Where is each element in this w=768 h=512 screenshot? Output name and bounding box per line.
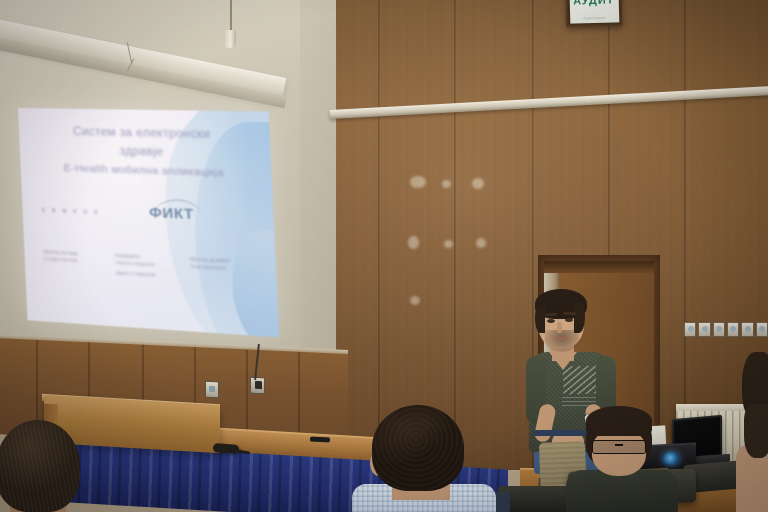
eyeglasses-bridge bbox=[615, 444, 623, 446]
presenter-mouth bbox=[554, 337, 568, 340]
power-outlet-left[interactable] bbox=[205, 381, 219, 399]
presenter-hair-left bbox=[535, 305, 545, 333]
attendee-center-hair bbox=[372, 405, 464, 491]
presenter-eye-right bbox=[565, 318, 573, 322]
lecture-hall-photo: АУДИТ Аудиториум Систем за електронски bbox=[0, 0, 768, 512]
presenter-eye-left bbox=[547, 319, 555, 323]
credit-line: Игор Димитров bbox=[190, 261, 255, 275]
presenter-eyebrow-right bbox=[563, 312, 576, 316]
wall-sign-face: АУДИТ Аудиториум bbox=[569, 0, 619, 23]
wall-sign-frame: АУДИТ Аудиториум bbox=[566, 0, 623, 27]
power-outlet[interactable] bbox=[741, 322, 753, 337]
power-outlet[interactable] bbox=[698, 322, 710, 337]
attendee-left-hair bbox=[0, 420, 80, 512]
power-outlet[interactable] bbox=[713, 322, 725, 337]
credit-line: Стефан Велков bbox=[43, 254, 103, 267]
eyeglasses-icon bbox=[592, 440, 646, 454]
wall-sign-text: АУДИТ bbox=[569, 0, 618, 7]
ceiling-light-socket bbox=[225, 30, 236, 48]
power-outlet[interactable] bbox=[727, 322, 739, 337]
credit-column: Кандидати: Никола Јорданов Дарко Стаменк… bbox=[115, 253, 178, 281]
ceiling-light-cord bbox=[230, 0, 232, 32]
wall-sign-subtext: Аудиториум bbox=[570, 15, 619, 20]
attendee-left-head bbox=[0, 420, 80, 512]
fikt-logo: ФИКТ bbox=[149, 204, 194, 222]
slide-title-block: Систем за електронски здравје E-Health м… bbox=[38, 123, 251, 183]
credit-column: Ментор од ФИКТ: Игор Димитров bbox=[190, 256, 255, 285]
slide-title-line2: здравје bbox=[119, 145, 163, 158]
power-outlet-row[interactable] bbox=[684, 322, 768, 336]
attendee-glasses-hair bbox=[586, 406, 652, 436]
attendee-glasses-shoulders bbox=[566, 470, 678, 512]
credit-column: Ментор на труд: Стефан Велков bbox=[43, 249, 104, 277]
attendee-right-hair-lower bbox=[744, 404, 768, 458]
attendee-center-head bbox=[372, 405, 464, 491]
power-outlet-left-2[interactable] bbox=[250, 377, 265, 395]
door-header bbox=[544, 261, 654, 273]
presenter-beard bbox=[545, 330, 579, 352]
power-outlet[interactable] bbox=[756, 322, 768, 337]
projected-slide: Систем за електронски здравје E-Health м… bbox=[18, 108, 279, 337]
projector-lens bbox=[663, 452, 679, 465]
power-outlet[interactable] bbox=[684, 322, 696, 337]
presenter-nose bbox=[557, 322, 562, 333]
projection-screen: Систем за електронски здравје E-Health м… bbox=[18, 108, 279, 337]
slide-title-line1: Систем за електронски bbox=[73, 126, 211, 141]
remote-control[interactable] bbox=[310, 436, 330, 442]
